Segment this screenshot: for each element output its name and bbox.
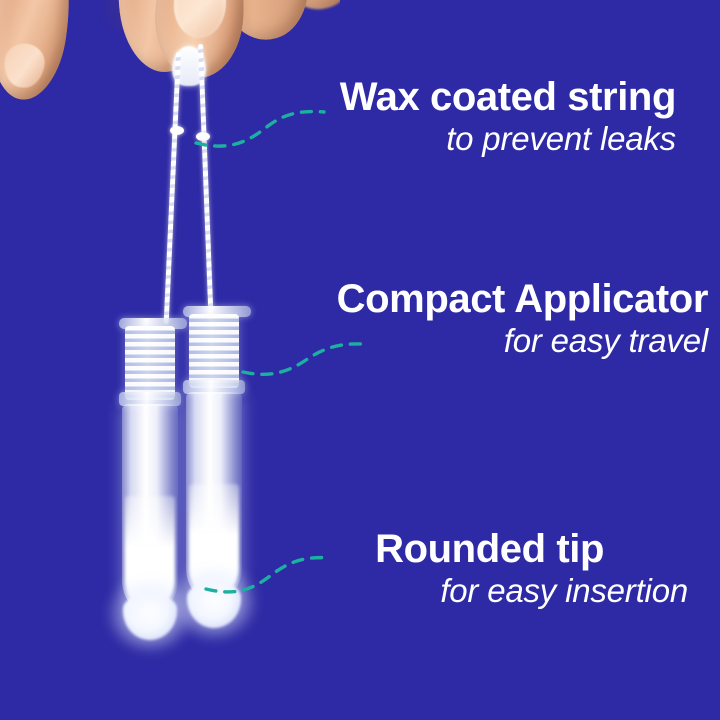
string-knot (196, 132, 210, 141)
callout-rounded-tip: Rounded tip for easy insertion (375, 528, 604, 611)
tampon-string-right (198, 44, 214, 328)
product-photo (0, 0, 340, 720)
callout-headline: Wax coated string (340, 76, 676, 118)
callout-compact-applicator: Compact Applicator for easy travel (337, 278, 708, 361)
applicator-grip (125, 326, 175, 400)
thumbnail (172, 0, 227, 39)
index-finger (0, 0, 78, 104)
applicator-grip (189, 314, 239, 388)
infographic-canvas: Wax coated string to prevent leaks Compa… (0, 0, 720, 720)
tampon-string-left (164, 52, 181, 324)
fingernail (2, 41, 47, 90)
callout-subline: for easy travel (337, 322, 708, 361)
tip-glow (106, 580, 194, 654)
callout-subline: for easy insertion (375, 572, 688, 611)
callout-wax-coated-string: Wax coated string to prevent leaks (340, 76, 676, 159)
callout-headline: Compact Applicator (337, 278, 708, 320)
callout-subline: to prevent leaks (340, 120, 676, 159)
callout-headline: Rounded tip (375, 528, 604, 570)
string-knot (170, 126, 184, 135)
